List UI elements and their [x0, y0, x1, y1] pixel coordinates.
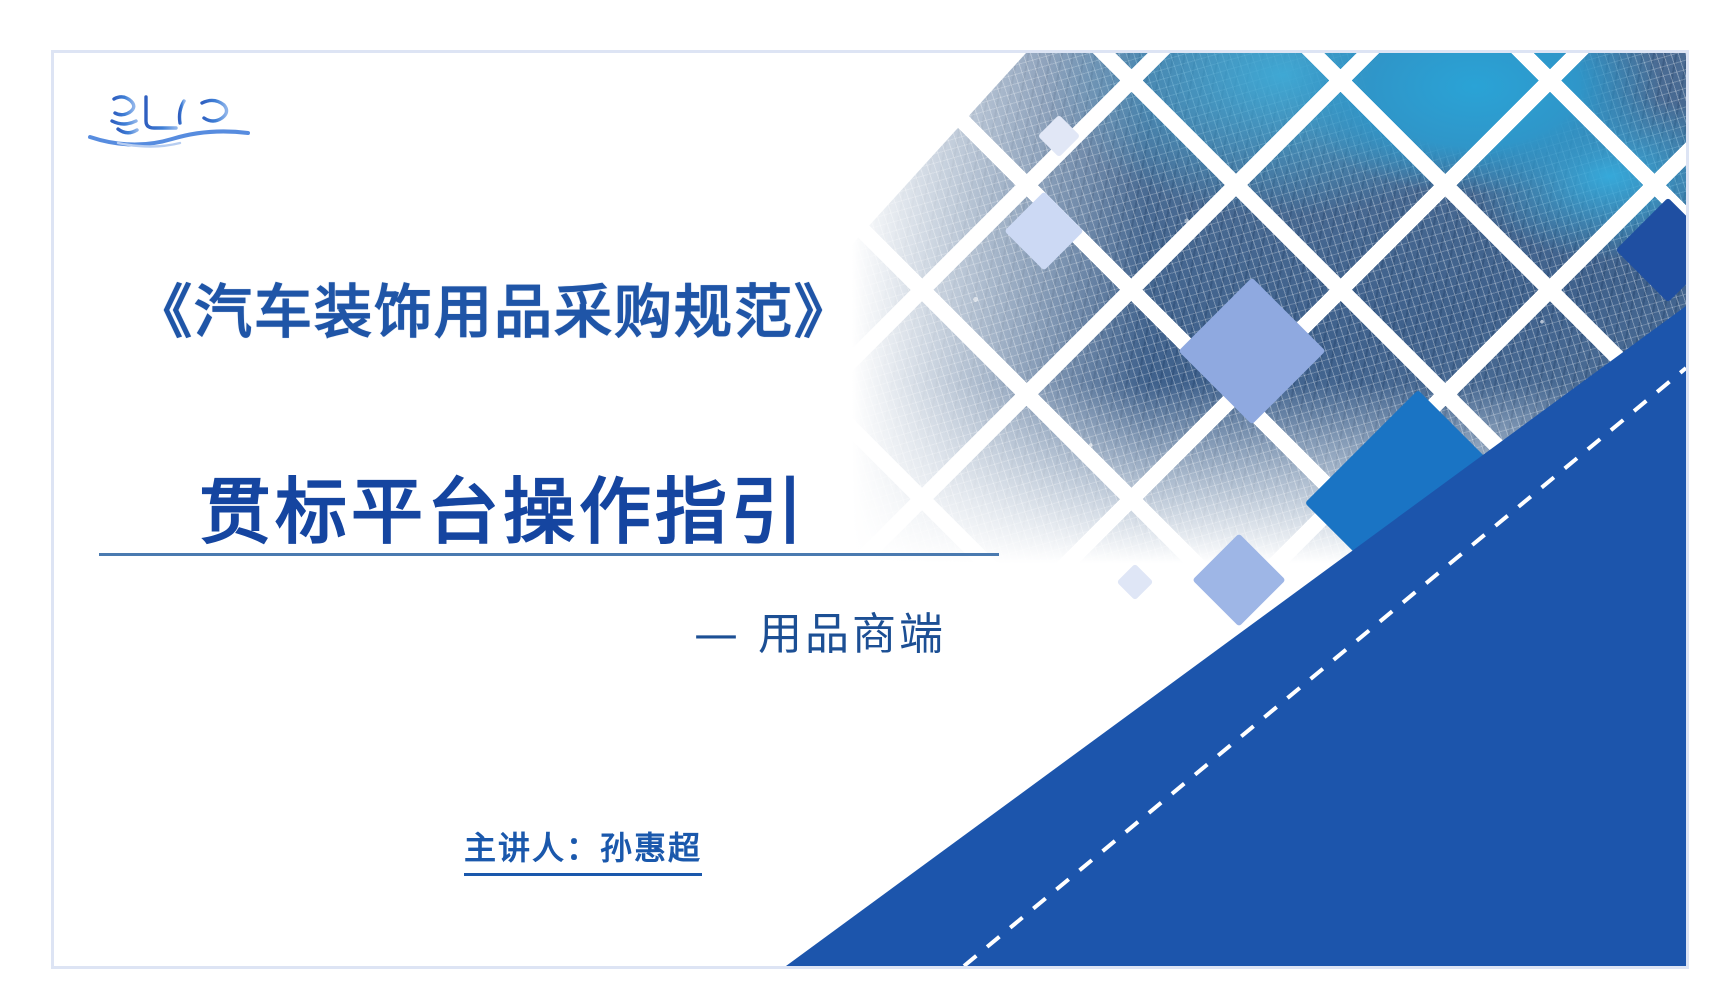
slide-root: 《汽车装饰用品采购规范》 贯标平台操作指引 — 用品商端 主讲人：孙惠超 [0, 0, 1728, 989]
diamond-solid-main [1305, 390, 1531, 616]
diamond-grid-mask [726, 53, 1686, 693]
page-subtitle: 贯标平台操作指引 [199, 453, 807, 558]
diamond-light-lower [1192, 533, 1285, 626]
diamond-mid-center [1178, 277, 1325, 424]
diamond-faint-lower [1117, 564, 1154, 601]
diamond-light-upper [1004, 191, 1083, 270]
diamond-solid-far [1616, 198, 1686, 303]
decorative-graphics-region [726, 53, 1686, 966]
brand-logo-icon[interactable] [84, 81, 254, 151]
photo-clip-left [726, 53, 1686, 613]
title-divider [99, 553, 999, 556]
page-title: 《汽车装饰用品采购规范》 [134, 265, 854, 349]
diamond-faint-top [1038, 115, 1080, 157]
slide-frame: 《汽车装饰用品采购规范》 贯标平台操作指引 — 用品商端 主讲人：孙惠超 [51, 50, 1689, 969]
aerial-city-photo [726, 53, 1686, 613]
photo-fade-bottom [726, 383, 1686, 633]
audience-label: — 用品商端 [694, 598, 946, 662]
diamond-mid-right [1527, 412, 1657, 542]
presenter-label: 主讲人：孙惠超 [464, 823, 702, 876]
